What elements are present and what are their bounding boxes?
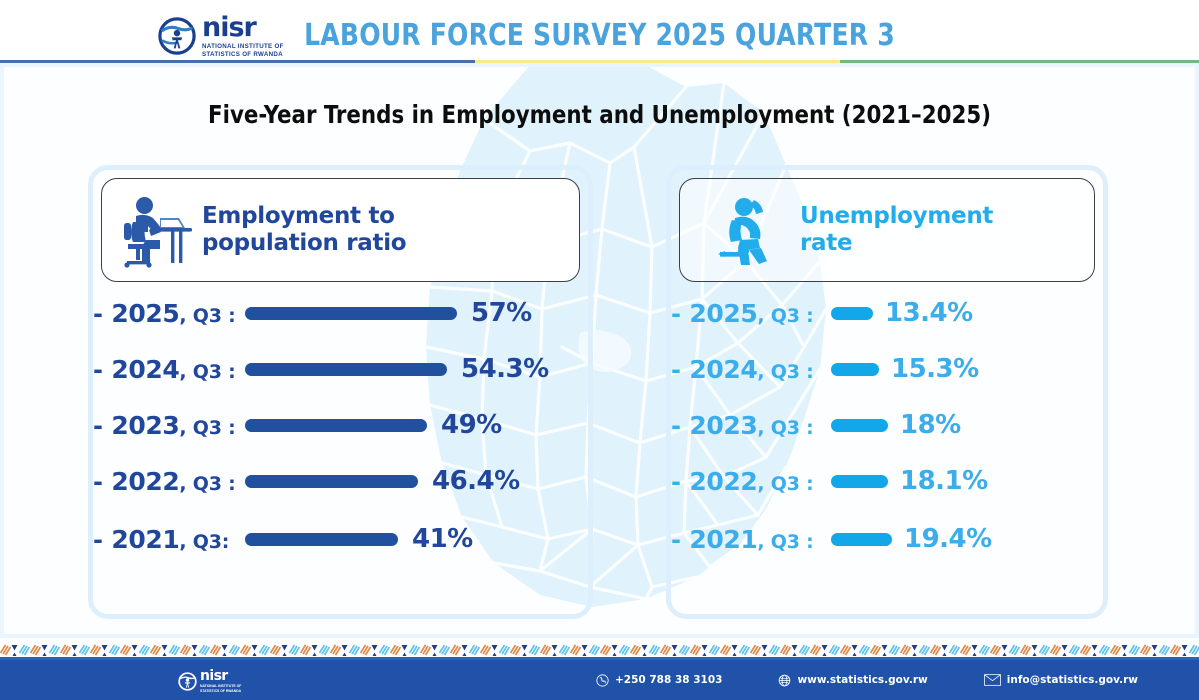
row-quarter: , Q3 :	[757, 361, 813, 383]
row-quarter: , Q3 :	[179, 473, 235, 495]
panel-employment-header: Employment to population ratio	[101, 178, 580, 282]
contact-email[interactable]: info@statistics.gov.rw	[984, 674, 1138, 686]
data-row-unemployment-2021: - 2021, Q3 :19.4%	[671, 522, 1103, 556]
infographic-slide: nisr NATIONAL INSTITUTE OF STATISTICS OF…	[0, 0, 1199, 700]
row-year: 2024	[689, 355, 757, 384]
row-bar	[245, 363, 447, 376]
data-row-employment-2025: - 2025, Q3 :57%	[93, 296, 588, 330]
row-dash: -	[93, 356, 111, 384]
data-row-employment-2021: - 2021, Q3:41%	[93, 522, 588, 556]
row-quarter: , Q3 :	[757, 417, 813, 439]
panel-unemployment-header: Unemployment rate	[679, 178, 1095, 282]
row-dash: -	[93, 300, 111, 328]
data-row-unemployment-2022: - 2022, Q3 :18.1%	[671, 464, 1103, 498]
footer-nisr-wordmark: nisr	[200, 669, 241, 683]
flag-divider	[0, 60, 1199, 63]
flag-divider-green	[840, 60, 1199, 63]
row-dash: -	[93, 468, 111, 496]
row-value: 57%	[471, 298, 532, 328]
row-quarter: , Q3 :	[179, 361, 235, 383]
row-label: - 2023, Q3 :	[93, 411, 245, 440]
phone-icon	[596, 674, 609, 687]
row-bar	[831, 307, 873, 320]
row-quarter: , Q3 :	[757, 531, 813, 553]
row-value: 15.3%	[891, 354, 979, 384]
survey-title: LABOUR FORCE SURVEY 2025 QUARTER 3	[42, 18, 1157, 53]
row-year: 2023	[111, 411, 179, 440]
panel-unemployment-label-line1: Unemployment	[800, 203, 993, 230]
row-year: 2022	[689, 467, 757, 496]
page-title: Five-Year Trends in Employment and Unemp…	[30, 100, 1169, 129]
globe-icon	[778, 674, 791, 687]
row-label: - 2021, Q3 :	[671, 525, 831, 554]
footer-tagline-line2: STATISTICS OF RWANDA	[200, 689, 241, 693]
row-dash: -	[671, 526, 689, 554]
contact-website-text: www.statistics.gov.rw	[797, 674, 927, 686]
row-label: - 2021, Q3:	[93, 525, 245, 554]
row-value: 13.4%	[885, 298, 973, 328]
row-year: 2025	[689, 299, 757, 328]
person-at-desk-icon	[112, 192, 198, 268]
flag-divider-yellow	[475, 60, 840, 63]
panel-employment-label-line2: population ratio	[202, 230, 406, 257]
page-footer: nisr NATIONAL INSTITUTE OF STATISTICS OF…	[0, 660, 1199, 700]
footer-contacts: +250 788 38 3103 www.statistics.gov.rw i…	[596, 660, 1138, 700]
row-quarter: , Q3 :	[757, 305, 813, 327]
contact-website[interactable]: www.statistics.gov.rw	[778, 674, 927, 687]
panel-employment: Employment to population ratio - 2025, Q…	[88, 165, 593, 619]
panel-unemployment-label: Unemployment rate	[800, 203, 993, 257]
row-bar	[831, 533, 892, 546]
row-quarter: , Q3 :	[179, 305, 235, 327]
row-bar	[831, 363, 879, 376]
footer-tagline-line1: NATIONAL INSTITUTE OF	[200, 684, 241, 688]
row-label: - 2025, Q3 :	[93, 299, 245, 328]
row-label: - 2022, Q3 :	[93, 467, 245, 496]
row-dash: -	[93, 412, 111, 440]
crouching-person-icon	[710, 194, 796, 266]
row-bar	[831, 419, 888, 432]
row-label: - 2024, Q3 :	[671, 355, 831, 384]
data-row-employment-2022: - 2022, Q3 :46.4%	[93, 464, 588, 498]
contact-phone[interactable]: +250 788 38 3103	[596, 674, 722, 687]
employment-rows: - 2025, Q3 :57%- 2024, Q3 :54.3%- 2023, …	[93, 296, 588, 604]
row-bar	[245, 475, 418, 488]
row-dash: -	[671, 412, 689, 440]
row-year: 2024	[111, 355, 179, 384]
data-row-unemployment-2023: - 2023, Q3 :18%	[671, 408, 1103, 442]
row-year: 2021	[111, 525, 179, 554]
contact-phone-text: +250 788 38 3103	[615, 674, 722, 686]
row-quarter: , Q3 :	[179, 417, 235, 439]
row-year: 2022	[111, 467, 179, 496]
row-dash: -	[671, 300, 689, 328]
imigongo-pattern-band	[0, 640, 1199, 658]
row-dash: -	[93, 526, 111, 554]
email-icon	[984, 674, 1001, 686]
row-value: 18.1%	[900, 466, 988, 496]
row-dash: -	[671, 468, 689, 496]
row-quarter: , Q3 :	[757, 473, 813, 495]
data-row-unemployment-2025: - 2025, Q3 :13.4%	[671, 296, 1103, 330]
row-year: 2025	[111, 299, 179, 328]
panel-employment-label-line1: Employment to	[202, 203, 406, 230]
flag-divider-blue	[0, 60, 475, 63]
footer-globe-icon	[178, 672, 197, 691]
data-row-unemployment-2024: - 2024, Q3 :15.3%	[671, 352, 1103, 386]
pattern-svg	[0, 640, 1199, 658]
data-row-employment-2023: - 2023, Q3 :49%	[93, 408, 588, 442]
page-header: nisr NATIONAL INSTITUTE OF STATISTICS OF…	[0, 0, 1199, 62]
row-value: 19.4%	[904, 524, 992, 554]
row-label: - 2023, Q3 :	[671, 411, 831, 440]
row-bar	[245, 419, 427, 432]
row-label: - 2025, Q3 :	[671, 299, 831, 328]
footer-nisr-logo: nisr NATIONAL INSTITUTE OF STATISTICS OF…	[178, 669, 241, 694]
panel-unemployment-label-line2: rate	[800, 230, 993, 257]
footer-logo-text: nisr NATIONAL INSTITUTE OF STATISTICS OF…	[200, 669, 241, 694]
row-year: 2023	[689, 411, 757, 440]
row-label: - 2024, Q3 :	[93, 355, 245, 384]
row-value: 18%	[900, 410, 961, 440]
unemployment-rows: - 2025, Q3 :13.4%- 2024, Q3 :15.3%- 2023…	[671, 296, 1103, 604]
data-row-employment-2024: - 2024, Q3 :54.3%	[93, 352, 588, 386]
row-dash: -	[671, 356, 689, 384]
row-value: 49%	[441, 410, 502, 440]
row-bar	[831, 475, 888, 488]
row-label: - 2022, Q3 :	[671, 467, 831, 496]
panel-employment-label: Employment to population ratio	[202, 203, 406, 257]
row-value: 46.4%	[432, 466, 520, 496]
panel-unemployment: Unemployment rate - 2025, Q3 :13.4%- 202…	[666, 165, 1108, 619]
contact-email-text: info@statistics.gov.rw	[1007, 674, 1138, 686]
row-year: 2021	[689, 525, 757, 554]
row-value: 54.3%	[461, 354, 549, 384]
row-value: 41%	[412, 524, 473, 554]
row-quarter: , Q3:	[179, 531, 229, 553]
row-bar	[245, 533, 398, 546]
row-bar	[245, 307, 457, 320]
